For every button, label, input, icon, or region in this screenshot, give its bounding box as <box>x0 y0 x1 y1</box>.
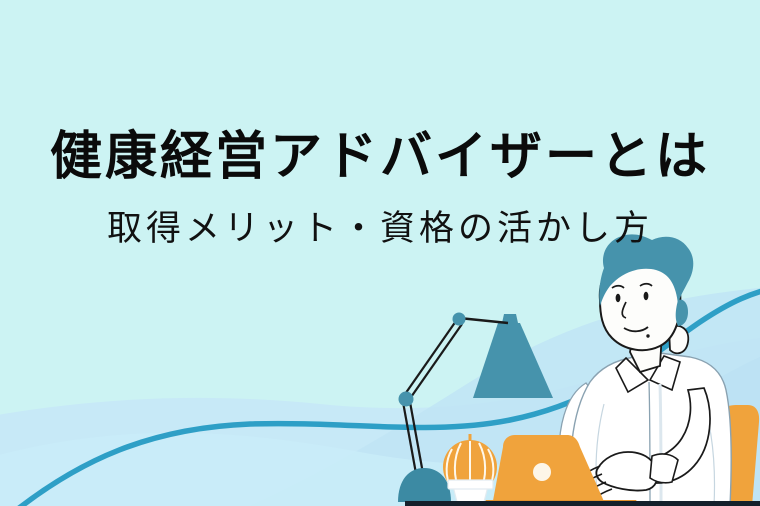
cactus-plant <box>443 434 497 506</box>
person-eye-right <box>644 292 649 300</box>
banner-canvas: 健康経営アドバイザーとは 取得メリット・資格の活かし方 <box>0 0 760 506</box>
desk-edge-line <box>405 501 760 506</box>
lamp-base <box>398 468 451 502</box>
lamp-arm-mid-b <box>409 324 462 400</box>
person-eye-left <box>616 294 621 302</box>
lamp-arm-upper <box>459 318 508 323</box>
lamp-shade <box>473 323 553 398</box>
page-subtitle: 取得メリット・資格の活かし方 <box>0 206 760 252</box>
subtitle-container: 取得メリット・資格の活かし方 <box>0 206 760 252</box>
lamp-joint-top <box>453 313 466 326</box>
page-title: 健康経営アドバイザーとは <box>0 126 760 188</box>
person-mole <box>646 334 649 337</box>
title-container: 健康経営アドバイザーとは <box>0 126 760 188</box>
lamp-arm-mid-a <box>403 321 456 397</box>
lamp-arm-low-b <box>410 402 424 479</box>
scene-illustration <box>0 0 760 506</box>
lamp-arm-low-a <box>403 402 417 479</box>
cactus-pot-rim <box>448 480 493 489</box>
lamp-joint-elbow <box>399 392 414 407</box>
laptop-logo <box>533 463 551 481</box>
person-hair-sideburn <box>676 300 688 326</box>
person-shirt-placket-2 <box>660 384 661 506</box>
